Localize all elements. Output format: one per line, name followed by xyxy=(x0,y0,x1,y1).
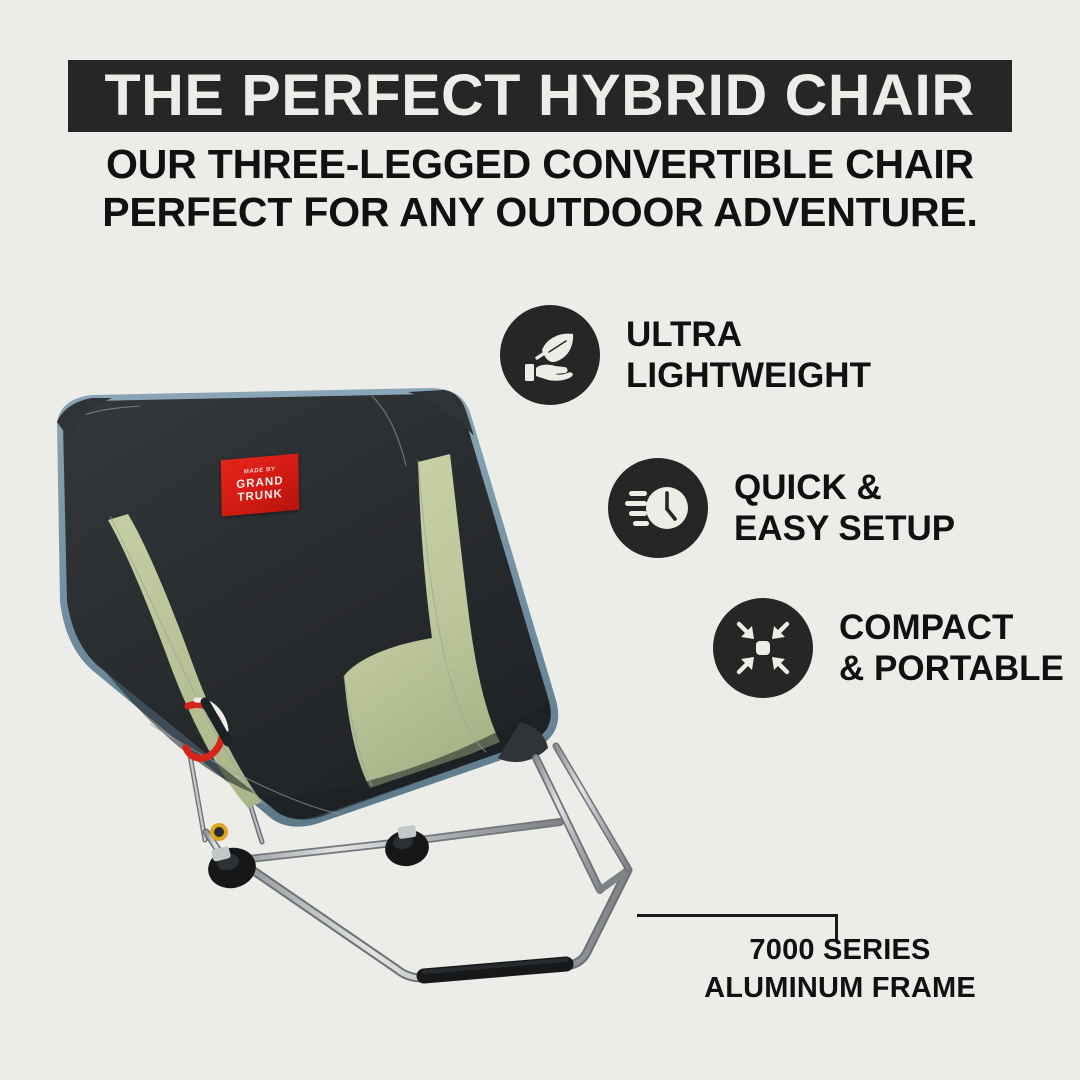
feature-label-ultra-lightweight: ULTRA LIGHTWEIGHT xyxy=(626,314,871,397)
subtitle-line-2: PERFECT FOR ANY OUTDOOR ADVENTURE. xyxy=(0,188,1080,236)
feature-compact-portable: COMPACT & PORTABLE xyxy=(713,598,1064,698)
page-subtitle: OUR THREE-LEGGED CONVERTIBLE CHAIR PERFE… xyxy=(0,140,1080,237)
callout-leader-line-horizontal xyxy=(637,914,838,917)
fast-clock-icon xyxy=(608,458,708,558)
feature-2-line-2: EASY SETUP xyxy=(734,508,955,549)
page-title: THE PERFECT HYBRID CHAIR xyxy=(105,67,975,125)
chair-fabric-shell xyxy=(57,388,558,827)
brand-patch: MADE BY GRAND TRUNK xyxy=(218,452,302,517)
patch-brand-text: GRAND TRUNK xyxy=(236,475,284,505)
feature-1-line-2: LIGHTWEIGHT xyxy=(626,355,871,396)
compress-arrows-icon xyxy=(713,598,813,698)
feature-2-line-1: QUICK & xyxy=(734,467,955,508)
subtitle-line-1: OUR THREE-LEGGED CONVERTIBLE CHAIR xyxy=(0,140,1080,188)
infographic-page: THE PERFECT HYBRID CHAIR OUR THREE-LEGGE… xyxy=(0,0,1080,1080)
hand-holding-feather-icon xyxy=(500,305,600,405)
feature-label-compact-portable: COMPACT & PORTABLE xyxy=(839,607,1064,690)
feature-ultra-lightweight: ULTRA LIGHTWEIGHT xyxy=(500,305,871,405)
feature-3-line-1: COMPACT xyxy=(839,607,1064,648)
patch-made-by-text: MADE BY xyxy=(244,466,276,475)
callout-line-1: 7000 SERIES xyxy=(610,932,1070,970)
page-title-bar: THE PERFECT HYBRID CHAIR xyxy=(68,60,1012,132)
feature-quick-easy-setup: QUICK & EASY SETUP xyxy=(608,458,955,558)
feature-3-line-2: & PORTABLE xyxy=(839,648,1064,689)
callout-aluminum-frame: 7000 SERIES ALUMINUM FRAME xyxy=(610,932,1070,1007)
feature-1-line-1: ULTRA xyxy=(626,314,871,355)
brand-patch-face: MADE BY GRAND TRUNK xyxy=(221,453,300,516)
callout-line-2: ALUMINUM FRAME xyxy=(610,970,1070,1008)
feature-label-quick-easy-setup: QUICK & EASY SETUP xyxy=(734,467,955,550)
